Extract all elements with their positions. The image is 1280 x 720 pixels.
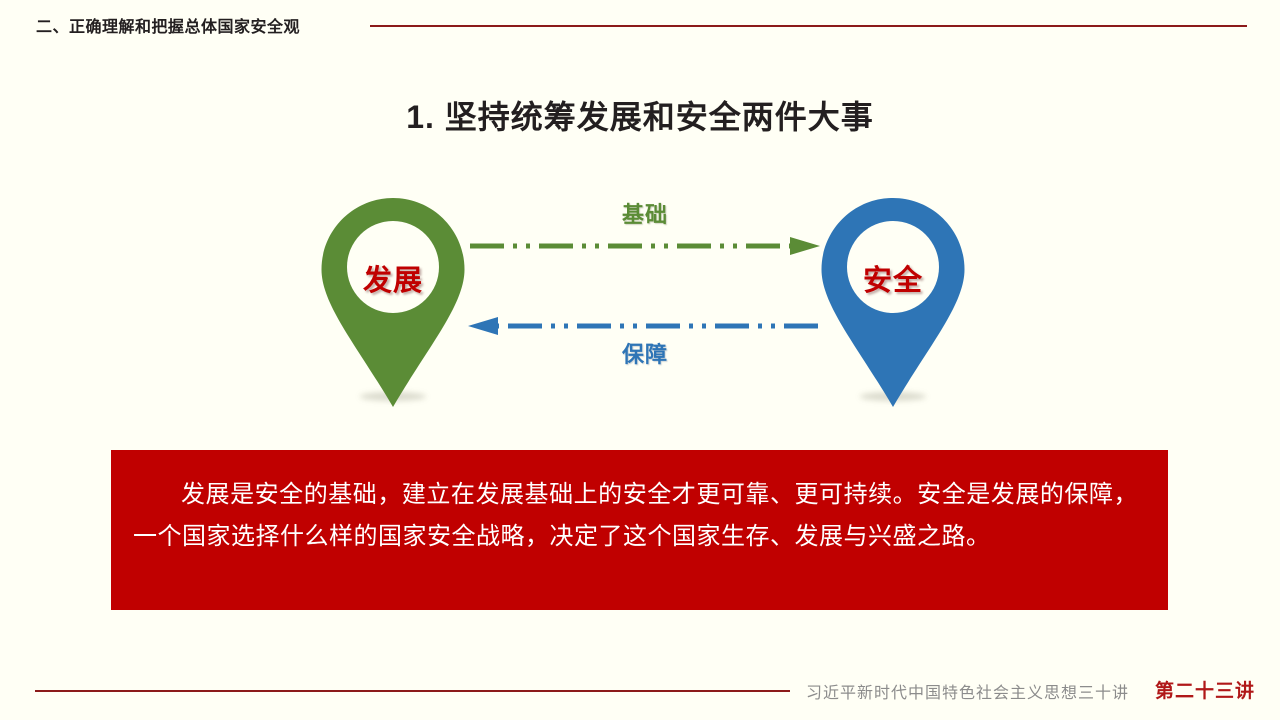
footer-series-title: 习近平新时代中国特色社会主义思想三十讲 [806, 679, 1129, 703]
header-divider-line [370, 25, 1247, 27]
footer-divider-line [35, 690, 790, 692]
arrow-foundation [470, 235, 822, 257]
map-pin-icon [318, 195, 468, 410]
map-pin-development-label: 发展 [318, 257, 468, 299]
arrow-label-guarantee: 保障 [525, 337, 765, 369]
arrow-right-icon [470, 235, 822, 257]
footer-lecture-number: 第二十三讲 [1155, 676, 1255, 703]
arrow-label-foundation: 基础 [525, 197, 765, 229]
arrow-guarantee [466, 315, 818, 337]
slide-header: 二、正确理解和把握总体国家安全观 [0, 0, 1280, 52]
map-pin-security[interactable]: 安全 [818, 195, 968, 410]
map-pin-icon [818, 195, 968, 410]
quote-text: 发展是安全的基础，建立在发展基础上的安全才更可靠、更可持续。安全是发展的保障，一… [133, 474, 1138, 558]
arrow-left-icon [466, 315, 818, 337]
map-pin-security-label: 安全 [818, 257, 968, 299]
page-title: 1. 坚持统筹发展和安全两件大事 [0, 92, 1280, 138]
section-title: 二、正确理解和把握总体国家安全观 [36, 13, 300, 37]
slide-footer: 习近平新时代中国特色社会主义思想三十讲 第二十三讲 [0, 668, 1280, 720]
quote-callout-box: 发展是安全的基础，建立在发展基础上的安全才更可靠、更可持续。安全是发展的保障，一… [111, 450, 1168, 610]
concept-diagram: 发展 安全 基础 保障 [0, 180, 1280, 420]
map-pin-development[interactable]: 发展 [318, 195, 468, 410]
